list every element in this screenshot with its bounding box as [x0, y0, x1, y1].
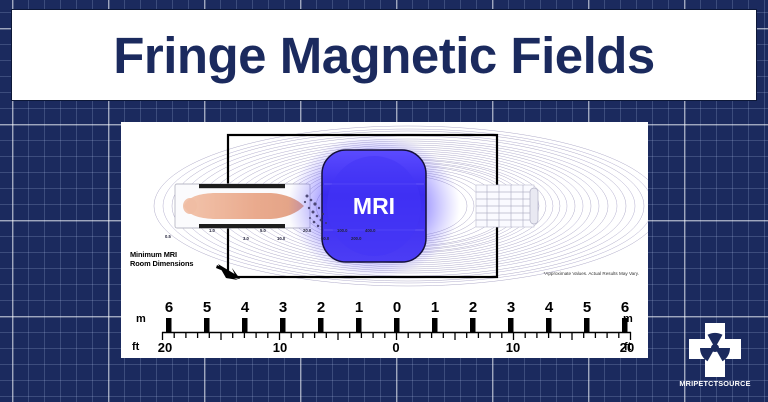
svg-text:10: 10: [273, 340, 287, 355]
svg-text:50.0: 50.0: [321, 236, 330, 241]
fringe-field-plot: MRI 0.5 1.0 3.0 5.0 10.0: [121, 122, 648, 292]
svg-text:5: 5: [583, 299, 591, 316]
unit-feet-left: ft: [132, 341, 140, 353]
room-dimensions-annotation: Minimum MRI Room Dimensions: [130, 250, 193, 269]
brand-name: MRIPETCTSOURCE: [676, 379, 754, 388]
svg-text:3.0: 3.0: [243, 236, 249, 241]
feet-minor-ticks: [163, 332, 631, 340]
svg-text:10.0: 10.0: [277, 236, 286, 241]
room-annotation-line-2: Room Dimensions: [130, 259, 193, 268]
screenshot-root: Fringe Magnetic Fields: [0, 0, 768, 402]
brand-logo: MRIPETCTSOURCE: [676, 322, 754, 394]
svg-text:4: 4: [241, 299, 250, 316]
svg-text:0: 0: [393, 299, 401, 316]
svg-text:0.5: 0.5: [165, 234, 171, 239]
svg-text:0: 0: [392, 340, 399, 355]
svg-text:5: 5: [203, 299, 211, 316]
meter-ticks: [166, 318, 628, 332]
svg-text:5.0: 5.0: [260, 228, 266, 233]
page-title: Fringe Magnetic Fields: [113, 30, 655, 81]
diagram-card: MRI 0.5 1.0 3.0 5.0 10.0: [121, 122, 648, 358]
svg-text:3: 3: [507, 299, 515, 316]
svg-text:4: 4: [545, 299, 554, 316]
unit-meter-left: m: [136, 313, 146, 325]
room-annotation-line-1: Minimum MRI: [130, 250, 177, 259]
svg-text:10: 10: [506, 340, 520, 355]
svg-text:6: 6: [621, 299, 629, 316]
svg-text:1: 1: [355, 299, 363, 316]
title-banner: Fringe Magnetic Fields: [12, 10, 756, 100]
svg-text:2: 2: [317, 299, 325, 316]
distance-scale-ruler: m m ft ft 6 5 4 3 2 1 0 1 2 3 4 5: [121, 292, 648, 358]
svg-text:1.0: 1.0: [209, 228, 215, 233]
approximate-values-footnote: *Approximate Values. Actual Results May …: [544, 271, 640, 276]
svg-text:20: 20: [158, 340, 172, 355]
svg-text:20: 20: [620, 340, 634, 355]
svg-text:400.0: 400.0: [365, 228, 376, 233]
scanner-label: MRI: [353, 193, 395, 219]
svg-text:6: 6: [165, 299, 173, 316]
svg-text:3: 3: [279, 299, 287, 316]
svg-text:20.0: 20.0: [303, 228, 312, 233]
svg-text:200.0: 200.0: [351, 236, 362, 241]
callout-arrow-icon: [216, 262, 244, 282]
svg-text:2: 2: [469, 299, 477, 316]
cross-radiation-trefoil-icon: [676, 322, 754, 378]
svg-text:100.0: 100.0: [337, 228, 348, 233]
feet-tick-labels: 20 10 0 10 20: [158, 340, 634, 355]
svg-text:1: 1: [431, 299, 439, 316]
meter-tick-labels: 6 5 4 3 2 1 0 1 2 3 4 5 6: [165, 299, 629, 316]
